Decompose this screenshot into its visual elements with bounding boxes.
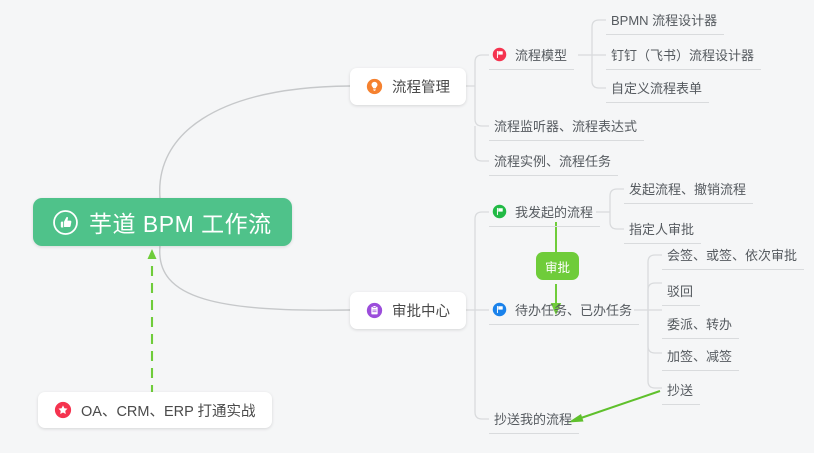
node-start-cancel-process[interactable]: 发起流程、撤销流程 <box>624 174 753 204</box>
node-cc-to-me-processes-label: 抄送我的流程 <box>494 409 572 428</box>
node-instance-task-label: 流程实例、流程任务 <box>494 151 611 170</box>
branch-approval-center-label: 审批中心 <box>392 300 450 321</box>
edge-root-to-approval-center <box>160 246 350 310</box>
node-cc-to-me-processes[interactable]: 抄送我的流程 <box>489 404 579 434</box>
node-bpmn-designer-label: BPMN 流程设计器 <box>611 10 717 29</box>
thumbs-up-icon <box>53 210 78 235</box>
node-bpmn-designer[interactable]: BPMN 流程设计器 <box>606 5 724 35</box>
flag-icon <box>492 47 507 62</box>
clipboard-icon <box>366 302 383 319</box>
node-my-started-processes[interactable]: 我发起的流程 <box>489 197 600 227</box>
node-add-remove-sign-label: 加签、减签 <box>667 346 732 365</box>
branch-process-management-label: 流程管理 <box>392 76 450 97</box>
edge-todo-to-reject <box>648 283 662 310</box>
node-instance-task[interactable]: 流程实例、流程任务 <box>489 146 618 176</box>
edge-ac-to-ccme <box>475 310 489 419</box>
tag-approval[interactable]: 审批 <box>536 252 579 280</box>
edge-todo-to-addsign <box>648 310 662 353</box>
note-integration-label: OA、CRM、ERP 打通实战 <box>81 400 256 421</box>
tag-approval-label: 审批 <box>545 257 570 276</box>
flag-icon <box>492 204 507 219</box>
edge-cc-to-ccme-arrow <box>568 391 660 423</box>
edge-model-to-bpmn <box>592 20 606 55</box>
edge-todo-to-counter <box>648 255 662 310</box>
node-listener-expression[interactable]: 流程监听器、流程表达式 <box>489 111 644 141</box>
edge-model-to-customform <box>592 55 606 88</box>
lightbulb-icon <box>366 78 383 95</box>
branch-process-management[interactable]: 流程管理 <box>350 68 466 105</box>
node-process-model[interactable]: 流程模型 <box>489 40 574 70</box>
node-custom-process-form-label: 自定义流程表单 <box>611 78 702 97</box>
node-assignee-approval-label: 指定人审批 <box>629 219 694 238</box>
node-delegate-transfer-label: 委派、转办 <box>667 314 732 333</box>
node-add-remove-sign[interactable]: 加签、减签 <box>662 341 739 371</box>
edge-root-to-process-management <box>160 86 350 198</box>
node-dingtalk-feishu-designer-label: 钉钉（飞书）流程设计器 <box>611 45 754 64</box>
node-cc-label: 抄送 <box>667 380 693 399</box>
mindmap-canvas: 芋道 BPM 工作流 流程管理 流程模型 BPMN 流程设计器 钉钉（飞书）流程 <box>0 0 814 453</box>
edge-integration-note-to-root <box>148 249 157 395</box>
node-delegate-transfer[interactable]: 委派、转办 <box>662 309 739 339</box>
node-process-model-label: 流程模型 <box>515 45 567 64</box>
edge-started-to-start <box>610 189 624 212</box>
node-dingtalk-feishu-designer[interactable]: 钉钉（飞书）流程设计器 <box>606 40 761 70</box>
node-reject-label: 驳回 <box>667 281 693 300</box>
branch-approval-center[interactable]: 审批中心 <box>350 292 466 329</box>
flag-icon <box>492 302 507 317</box>
node-cc[interactable]: 抄送 <box>662 375 700 405</box>
edge-todo-to-cc <box>648 310 662 388</box>
edge-pm-to-model <box>475 55 489 86</box>
edge-started-to-assignee <box>610 212 624 229</box>
node-reject[interactable]: 驳回 <box>662 276 700 306</box>
star-icon <box>54 401 72 419</box>
edge-ac-to-started <box>475 212 489 310</box>
node-todo-done-tasks[interactable]: 待办任务、已办任务 <box>489 295 639 325</box>
edge-pm-to-instance <box>475 126 489 161</box>
node-custom-process-form[interactable]: 自定义流程表单 <box>606 73 709 103</box>
note-integration[interactable]: OA、CRM、ERP 打通实战 <box>38 392 272 428</box>
node-todo-done-tasks-label: 待办任务、已办任务 <box>515 300 632 319</box>
node-countersign-or-sequential[interactable]: 会签、或签、依次审批 <box>662 240 804 270</box>
root-node[interactable]: 芋道 BPM 工作流 <box>33 198 292 246</box>
node-my-started-processes-label: 我发起的流程 <box>515 202 593 221</box>
edge-pm-to-listener <box>475 86 489 126</box>
node-start-cancel-process-label: 发起流程、撤销流程 <box>629 179 746 198</box>
node-listener-expression-label: 流程监听器、流程表达式 <box>494 116 637 135</box>
root-label: 芋道 BPM 工作流 <box>89 205 272 239</box>
node-countersign-or-sequential-label: 会签、或签、依次审批 <box>667 245 797 264</box>
